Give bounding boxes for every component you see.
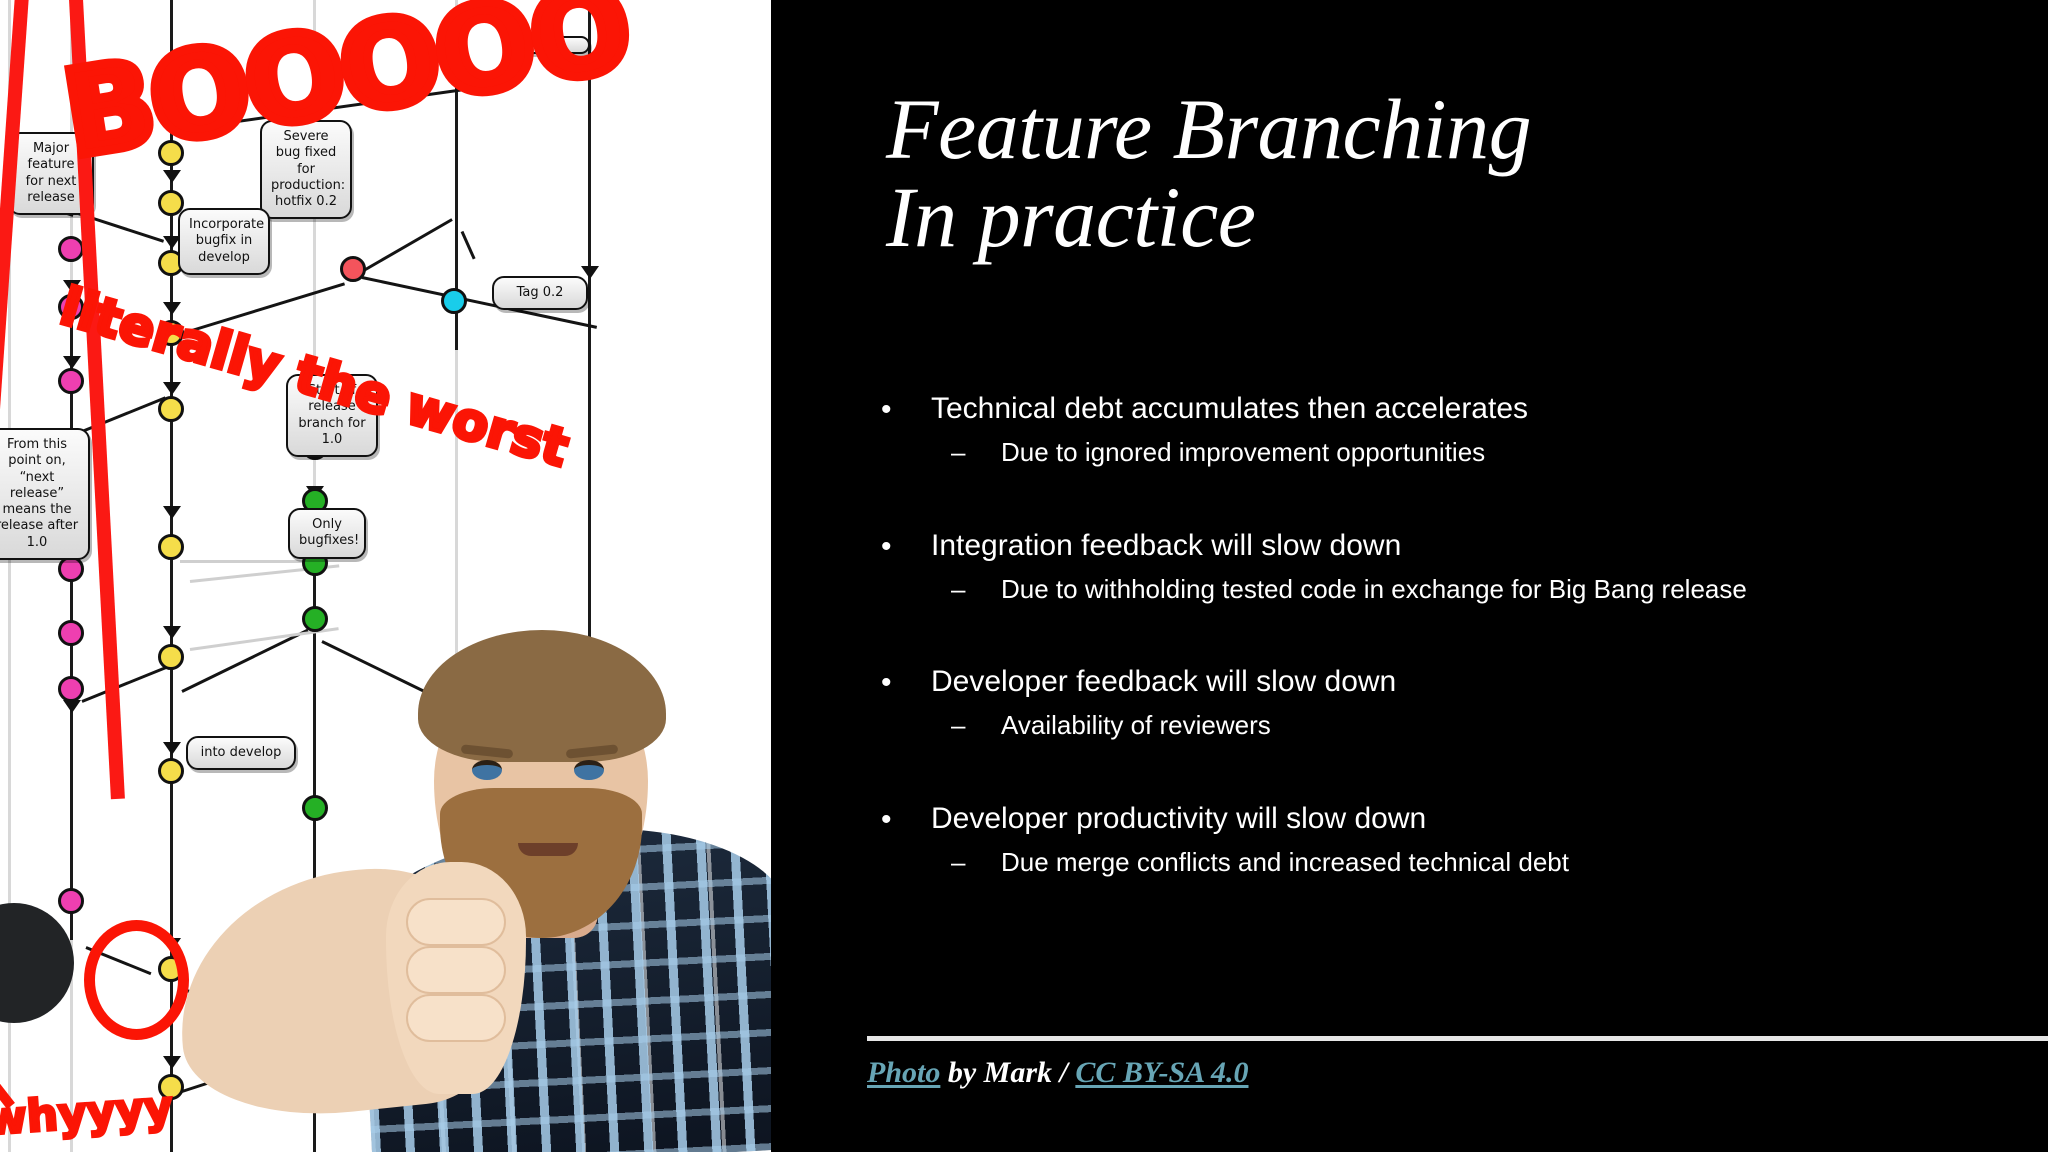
arrowhead bbox=[163, 506, 181, 519]
callout-tag-02: Tag 0.2 bbox=[492, 276, 588, 310]
sub-bullet-item: – Due merge conflicts and increased tech… bbox=[867, 848, 2027, 877]
sub-bullet-text: Availability of reviewers bbox=[1001, 710, 1271, 740]
knuckle bbox=[406, 946, 506, 994]
callout-only-bugfixes: Only bugfixes! bbox=[288, 508, 366, 559]
dark-circle-overlay bbox=[0, 903, 74, 1023]
commit-node bbox=[441, 288, 467, 314]
merge-connector bbox=[361, 218, 453, 273]
photo-credit-link[interactable]: Photo bbox=[867, 1056, 940, 1089]
arrowhead bbox=[163, 382, 181, 395]
bullet-text: Integration feedback will slow down bbox=[931, 529, 1401, 562]
person-thumbs-down bbox=[178, 572, 771, 1152]
bullet-item: • Technical debt accumulates then accele… bbox=[867, 392, 2027, 425]
gitflow-photo: Major feature for next release Severe bu… bbox=[0, 0, 771, 1152]
sub-bullet-marker: – bbox=[951, 438, 965, 467]
commit-node bbox=[158, 534, 184, 560]
sub-bullet-marker: – bbox=[951, 711, 965, 740]
bullet-item: • Developer feedback will slow down bbox=[867, 665, 2027, 698]
sub-bullet-text: Due to ignored improvement opportunities bbox=[1001, 437, 1485, 467]
commit-node bbox=[340, 256, 366, 282]
divider bbox=[867, 1036, 2048, 1041]
commit-node bbox=[58, 236, 84, 262]
eye-left bbox=[472, 760, 502, 780]
photo-credit: Photo by Mark / CC BY-SA 4.0 bbox=[867, 1056, 1249, 1090]
bullet-group: • Technical debt accumulates then accele… bbox=[867, 392, 2027, 467]
commit-node bbox=[58, 368, 84, 394]
sub-bullet-item: – Due to withholding tested code in exch… bbox=[867, 575, 2027, 604]
sub-bullet-text: Due merge conflicts and increased techni… bbox=[1001, 847, 1569, 877]
title-line-2: In practice bbox=[886, 174, 1986, 262]
commit-node bbox=[58, 888, 84, 914]
commit-node bbox=[158, 396, 184, 422]
sub-bullet-marker: – bbox=[951, 575, 965, 604]
bullet-group: • Developer feedback will slow down – Av… bbox=[867, 665, 2027, 740]
knuckle bbox=[406, 994, 506, 1042]
presentation-slide: Major feature for next release Severe bu… bbox=[0, 0, 2048, 1152]
sub-bullet-marker: – bbox=[951, 848, 965, 877]
bullet-marker: • bbox=[881, 803, 892, 836]
bullet-item: • Developer productivity will slow down bbox=[867, 802, 2027, 835]
license-link[interactable]: CC BY-SA 4.0 bbox=[1075, 1056, 1248, 1089]
eye-right bbox=[574, 760, 604, 780]
sub-bullet-text: Due to withholding tested code in exchan… bbox=[1001, 574, 1747, 604]
bullet-text: Developer productivity will slow down bbox=[931, 802, 1426, 835]
hair bbox=[418, 630, 666, 762]
bullet-item: • Integration feedback will slow down bbox=[867, 529, 2027, 562]
title-line-1: Feature Branching bbox=[886, 86, 1986, 174]
sub-bullet-item: – Due to ignored improvement opportuniti… bbox=[867, 438, 2027, 467]
commit-node bbox=[58, 676, 84, 702]
bullet-list: • Technical debt accumulates then accele… bbox=[867, 392, 2027, 876]
callout-next-release: From this point on, “next release” means… bbox=[0, 428, 90, 560]
bullet-text: Technical debt accumulates then accelera… bbox=[931, 392, 1528, 425]
bullet-group: • Developer productivity will slow down … bbox=[867, 802, 2027, 877]
red-circle-highlight bbox=[84, 920, 189, 1040]
merge-connector bbox=[81, 666, 166, 702]
red-strike-line bbox=[0, 0, 30, 779]
photo-credit-middle: by Mark / bbox=[940, 1056, 1075, 1089]
annotation-whyyyy: whyyyy bbox=[0, 1086, 174, 1143]
knuckle bbox=[406, 898, 506, 946]
page-title: Feature Branching In practice bbox=[886, 86, 1986, 261]
bullet-text: Developer feedback will slow down bbox=[931, 665, 1396, 698]
arrowhead bbox=[581, 266, 599, 279]
slide-content: Feature Branching In practice • Technica… bbox=[771, 0, 2048, 1152]
sub-bullet-item: – Availability of reviewers bbox=[867, 711, 2027, 740]
bullet-marker: • bbox=[881, 666, 892, 699]
commit-node bbox=[58, 620, 84, 646]
bullet-group: • Integration feedback will slow down – … bbox=[867, 529, 2027, 604]
arrowhead bbox=[163, 170, 181, 183]
commit-node bbox=[58, 556, 84, 582]
callout-incorporate-bugfix: Incorporate bugfix in develop bbox=[178, 208, 270, 275]
bullet-marker: • bbox=[881, 393, 892, 426]
bullet-marker: • bbox=[881, 530, 892, 563]
mouth bbox=[518, 843, 578, 856]
merge-connector bbox=[461, 231, 476, 260]
